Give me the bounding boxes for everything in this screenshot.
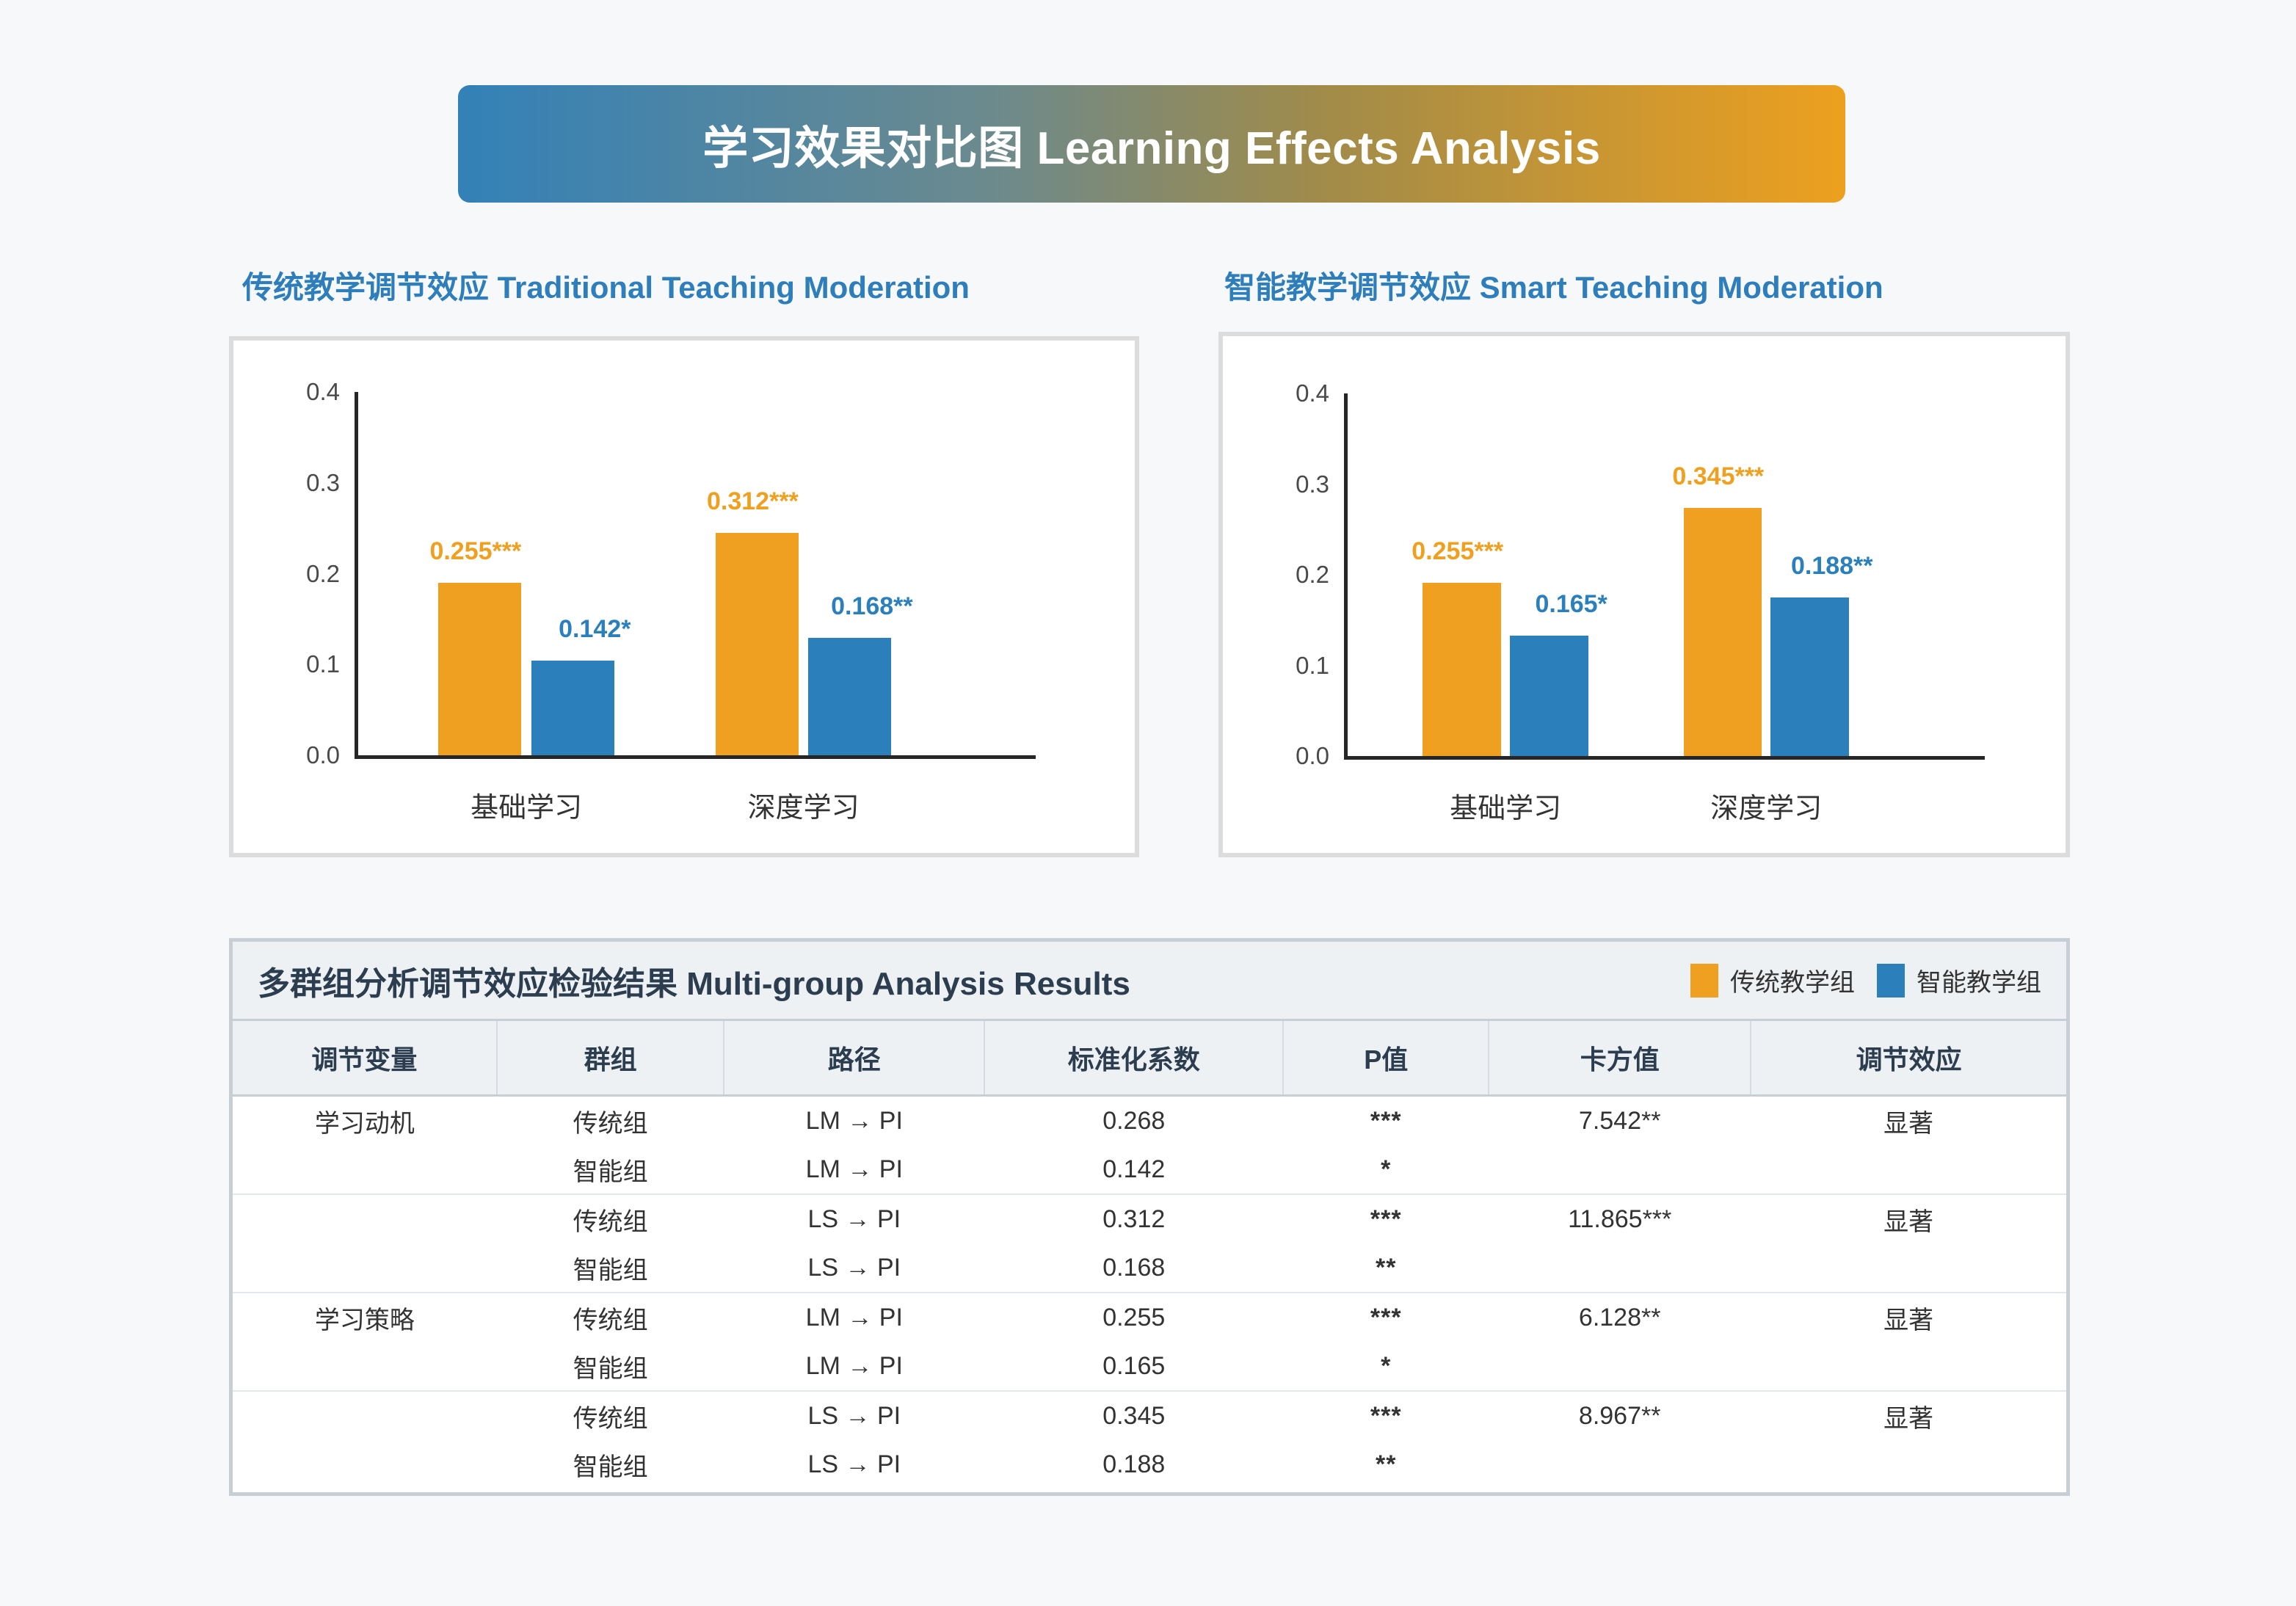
bar-traditional	[716, 533, 799, 755]
table-row[interactable]: 智能组LM → PI0.142*	[233, 1145, 2066, 1194]
cell-chi-square	[1489, 1145, 1751, 1194]
cell-moderating-variable	[233, 1342, 497, 1391]
bar-value-label: 0.165*	[1535, 590, 1607, 619]
cell-path: LM → PI	[724, 1145, 984, 1194]
cell-p-value: **	[1283, 1243, 1489, 1293]
bar-value-label: 0.142*	[559, 615, 631, 644]
cell-chi-square: 8.967**	[1489, 1391, 1751, 1440]
bar-value-label: 0.255***	[1412, 537, 1503, 566]
cell-p-value: *	[1283, 1145, 1489, 1194]
cell-moderation-effect	[1751, 1440, 2066, 1489]
cell-chi-square: 11.865***	[1489, 1194, 1751, 1243]
table-body: 学习动机传统组LM → PI0.268***7.542**显著智能组LM → P…	[233, 1096, 2066, 1489]
chart-title-smart: 智能教学调节效应 Smart Teaching Moderation	[1224, 263, 1883, 308]
table-column-header: 卡方值	[1489, 1021, 1751, 1096]
legend-label-smart: 智能教学组	[1917, 962, 2041, 998]
legend-swatch-icon-smart	[1877, 964, 1905, 998]
y-axis-line	[355, 392, 358, 757]
cell-group: 传统组	[497, 1194, 724, 1243]
page-title: 学习效果对比图 Learning Effects Analysis	[702, 111, 1600, 177]
cell-group: 智能组	[497, 1243, 724, 1293]
cell-moderating-variable	[233, 1145, 497, 1194]
cell-chi-square: 7.542**	[1489, 1096, 1751, 1146]
results-table-panel: 多群组分析调节效应检验结果 Multi-group Analysis Resul…	[229, 938, 2070, 1496]
results-table: 调节变量群组路径标准化系数P值卡方值调节效应 学习动机传统组LM → PI0.2…	[233, 1021, 2066, 1489]
y-axis-tick-label: 0.1	[266, 650, 340, 678]
legend-item-traditional: 传统教学组	[1690, 962, 1855, 998]
table-column-header: P值	[1283, 1021, 1489, 1096]
table-row[interactable]: 学习策略传统组LM → PI0.255***6.128**显著	[233, 1293, 2066, 1342]
cell-moderation-effect: 显著	[1751, 1096, 2066, 1146]
cell-coefficient: 0.188	[984, 1440, 1283, 1489]
bar-value-label: 0.255***	[429, 537, 521, 566]
table-row[interactable]: 智能组LS → PI0.188**	[233, 1440, 2066, 1489]
table-row[interactable]: 学习动机传统组LM → PI0.268***7.542**显著	[233, 1096, 2066, 1146]
plot-area-smart: 0.00.10.20.30.40.255***0.165*基础学习0.345**…	[1223, 336, 2066, 853]
cell-coefficient: 0.255	[984, 1293, 1283, 1342]
table-column-header: 标准化系数	[984, 1021, 1283, 1096]
bar-traditional	[438, 583, 521, 755]
cell-p-value: ***	[1283, 1194, 1489, 1243]
cell-moderation-effect: 显著	[1751, 1194, 2066, 1243]
chart-title-traditional: 传统教学调节效应 Traditional Teaching Moderation	[242, 263, 970, 308]
y-axis-tick-label: 0.3	[266, 469, 340, 497]
cell-p-value: ***	[1283, 1293, 1489, 1342]
bar-value-label: 0.312***	[707, 487, 799, 516]
cell-chi-square	[1489, 1440, 1751, 1489]
table-row[interactable]: 智能组LM → PI0.165*	[233, 1342, 2066, 1391]
cell-moderating-variable: 学习动机	[233, 1096, 497, 1146]
cell-path: LS → PI	[724, 1440, 984, 1489]
cell-moderating-variable: 学习策略	[233, 1293, 497, 1342]
table-column-header: 群组	[497, 1021, 724, 1096]
cell-moderation-effect	[1751, 1342, 2066, 1391]
cell-path: LM → PI	[724, 1293, 984, 1342]
cell-path: LS → PI	[724, 1391, 984, 1440]
cell-path: LS → PI	[724, 1243, 984, 1293]
y-axis-tick-label: 0.4	[1256, 379, 1329, 407]
cell-p-value: *	[1283, 1342, 1489, 1391]
chart-panel-traditional: 0.00.10.20.30.40.255***0.142*基础学习0.312**…	[229, 336, 1139, 857]
cell-path: LM → PI	[724, 1342, 984, 1391]
bar-value-label: 0.168**	[831, 592, 913, 621]
x-axis-tick-label: 基础学习	[471, 785, 582, 825]
table-legend: 传统教学组 智能教学组	[1690, 962, 2041, 998]
table-column-header: 调节效应	[1751, 1021, 2066, 1096]
cell-moderating-variable	[233, 1243, 497, 1293]
table-header-row: 调节变量群组路径标准化系数P值卡方值调节效应	[233, 1021, 2066, 1096]
cell-coefficient: 0.345	[984, 1391, 1283, 1440]
cell-moderating-variable	[233, 1391, 497, 1440]
cell-coefficient: 0.268	[984, 1096, 1283, 1146]
plot-area-traditional: 0.00.10.20.30.40.255***0.142*基础学习0.312**…	[233, 341, 1135, 853]
table-row[interactable]: 智能组LS → PI0.168**	[233, 1243, 2066, 1293]
y-axis-tick-label: 0.2	[266, 560, 340, 588]
bar-traditional	[1423, 583, 1501, 756]
y-axis-tick-label: 0.4	[266, 378, 340, 406]
bar-smart	[808, 638, 891, 755]
bar-value-label: 0.188**	[1791, 552, 1873, 581]
cell-group: 智能组	[497, 1145, 724, 1194]
table-column-header: 调节变量	[233, 1021, 497, 1096]
cell-chi-square	[1489, 1342, 1751, 1391]
cell-moderation-effect	[1751, 1243, 2066, 1293]
y-axis-tick-label: 0.0	[266, 741, 340, 769]
x-axis-tick-label: 深度学习	[1710, 785, 1822, 826]
bar-smart	[1510, 636, 1588, 756]
cell-path: LS → PI	[724, 1194, 984, 1243]
table-row[interactable]: 传统组LS → PI0.345***8.967**显著	[233, 1391, 2066, 1440]
y-axis-tick-label: 0.0	[1256, 742, 1329, 770]
page-title-banner: 学习效果对比图 Learning Effects Analysis	[458, 85, 1845, 203]
x-axis-line	[1344, 756, 1985, 760]
table-row[interactable]: 传统组LS → PI0.312***11.865***显著	[233, 1194, 2066, 1243]
table-column-header: 路径	[724, 1021, 984, 1096]
cell-moderating-variable	[233, 1194, 497, 1243]
table-head: 调节变量群组路径标准化系数P值卡方值调节效应	[233, 1021, 2066, 1096]
cell-group: 传统组	[497, 1096, 724, 1146]
legend-swatch-icon-traditional	[1690, 964, 1718, 998]
y-axis-tick-label: 0.2	[1256, 561, 1329, 589]
bar-smart	[1770, 597, 1849, 756]
y-axis-tick-label: 0.3	[1256, 470, 1329, 498]
cell-p-value: **	[1283, 1440, 1489, 1489]
cell-moderation-effect	[1751, 1145, 2066, 1194]
cell-coefficient: 0.168	[984, 1243, 1283, 1293]
cell-group: 智能组	[497, 1440, 724, 1489]
cell-chi-square	[1489, 1243, 1751, 1293]
bar-smart	[531, 661, 614, 755]
cell-moderation-effect: 显著	[1751, 1293, 2066, 1342]
x-axis-tick-label: 基础学习	[1450, 785, 1561, 826]
cell-group: 智能组	[497, 1342, 724, 1391]
bar-traditional	[1684, 508, 1762, 756]
chart-panel-smart: 0.00.10.20.30.40.255***0.165*基础学习0.345**…	[1218, 332, 2070, 857]
table-title: 多群组分析调节效应检验结果 Multi-group Analysis Resul…	[258, 957, 1130, 1004]
y-axis-tick-label: 0.1	[1256, 652, 1329, 680]
cell-path: LM → PI	[724, 1096, 984, 1146]
x-axis-tick-label: 深度学习	[748, 785, 860, 825]
cell-moderation-effect: 显著	[1751, 1391, 2066, 1440]
cell-p-value: ***	[1283, 1391, 1489, 1440]
table-header-bar: 多群组分析调节效应检验结果 Multi-group Analysis Resul…	[233, 942, 2066, 1021]
legend-label-traditional: 传统教学组	[1730, 962, 1855, 998]
cell-moderating-variable	[233, 1440, 497, 1489]
cell-coefficient: 0.312	[984, 1194, 1283, 1243]
y-axis-line	[1344, 393, 1348, 758]
cell-group: 传统组	[497, 1391, 724, 1440]
bar-value-label: 0.345***	[1672, 462, 1764, 491]
cell-coefficient: 0.142	[984, 1145, 1283, 1194]
legend-item-smart: 智能教学组	[1877, 962, 2041, 998]
x-axis-line	[355, 755, 1036, 759]
cell-chi-square: 6.128**	[1489, 1293, 1751, 1342]
cell-coefficient: 0.165	[984, 1342, 1283, 1391]
cell-group: 传统组	[497, 1293, 724, 1342]
cell-p-value: ***	[1283, 1096, 1489, 1146]
